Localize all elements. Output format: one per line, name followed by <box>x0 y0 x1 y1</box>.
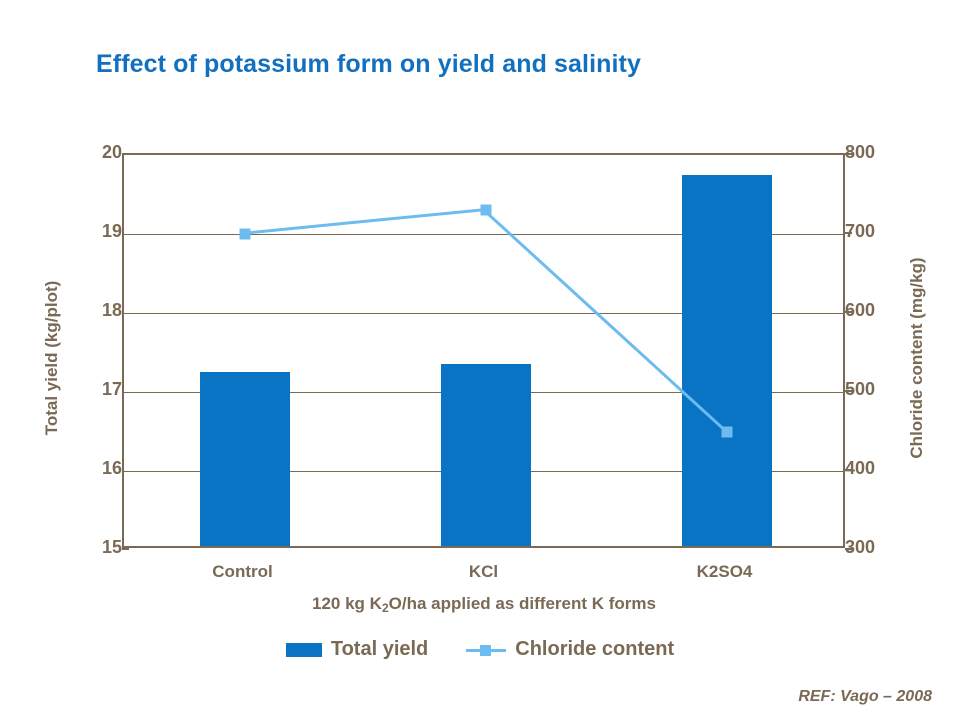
chloride-line <box>244 210 723 429</box>
y-axis-left-tickmark <box>122 548 129 550</box>
chart-legend: Total yieldChloride content <box>0 638 960 661</box>
legend-item[interactable]: Chloride content <box>466 638 674 661</box>
x-axis-title-subscript: 2 <box>382 601 389 615</box>
y-axis-left-tick-label: 15 <box>76 537 122 558</box>
x-axis-label-control: Control <box>212 562 272 582</box>
legend-item[interactable]: Total yield <box>286 638 428 661</box>
slide-canvas: Effect of potassium form on yield and sa… <box>0 0 960 720</box>
x-axis-label-k2so4: K2SO4 <box>697 562 753 582</box>
y-axis-right-tick-label: 700 <box>845 221 901 242</box>
legend-label: Chloride content <box>515 638 674 661</box>
y-axis-right-tick-label: 800 <box>845 142 901 163</box>
x-axis-title-pre: 120 kg K <box>312 594 382 613</box>
legend-line-marker-square <box>480 645 491 656</box>
y-axis-right-tickmark <box>845 390 852 392</box>
y-axis-right-tickmark <box>845 232 852 234</box>
legend-label: Total yield <box>331 638 428 661</box>
legend-bar-swatch-icon <box>286 643 322 657</box>
y-axis-left-tick-label: 19 <box>76 221 122 242</box>
y-axis-right-tick-label: 400 <box>845 458 901 479</box>
y-axis-right-tick-label: 300 <box>845 537 901 558</box>
y-axis-right-tick-label: 600 <box>845 300 901 321</box>
reference-credit: REF: Vago – 2008 <box>798 688 932 706</box>
line-marker-k2so4[interactable] <box>721 426 732 437</box>
y-axis-right-tick-label: 500 <box>845 379 901 400</box>
y-axis-right-ticks: 300400500600700800 <box>845 153 915 548</box>
line-marker-control[interactable] <box>239 229 250 240</box>
y-axis-title-left: Total yield (kg/plot) <box>42 198 62 518</box>
y-axis-right-tickmark <box>845 469 852 471</box>
y-axis-right-tickmark <box>845 548 852 550</box>
y-axis-left-ticks: 151617181920 <box>62 153 122 548</box>
plot-area <box>122 153 845 548</box>
x-axis-title: 120 kg K2O/ha applied as different K for… <box>122 594 846 614</box>
y-axis-left-tick-label: 18 <box>76 300 122 321</box>
legend-line-marker-icon <box>466 643 506 657</box>
x-axis-label-kcl: KCl <box>469 562 498 582</box>
y-axis-right-tickmark <box>845 153 852 155</box>
y-axis-right-tickmark <box>845 311 852 313</box>
y-axis-left-tick-label: 17 <box>76 379 122 400</box>
line-marker-kcl[interactable] <box>480 205 491 216</box>
chart-title: Effect of potassium form on yield and sa… <box>96 50 641 79</box>
y-axis-left-tick-label: 20 <box>76 142 122 163</box>
x-axis-title-post: O/ha applied as different K forms <box>389 594 656 613</box>
y-axis-left-tick-label: 16 <box>76 458 122 479</box>
